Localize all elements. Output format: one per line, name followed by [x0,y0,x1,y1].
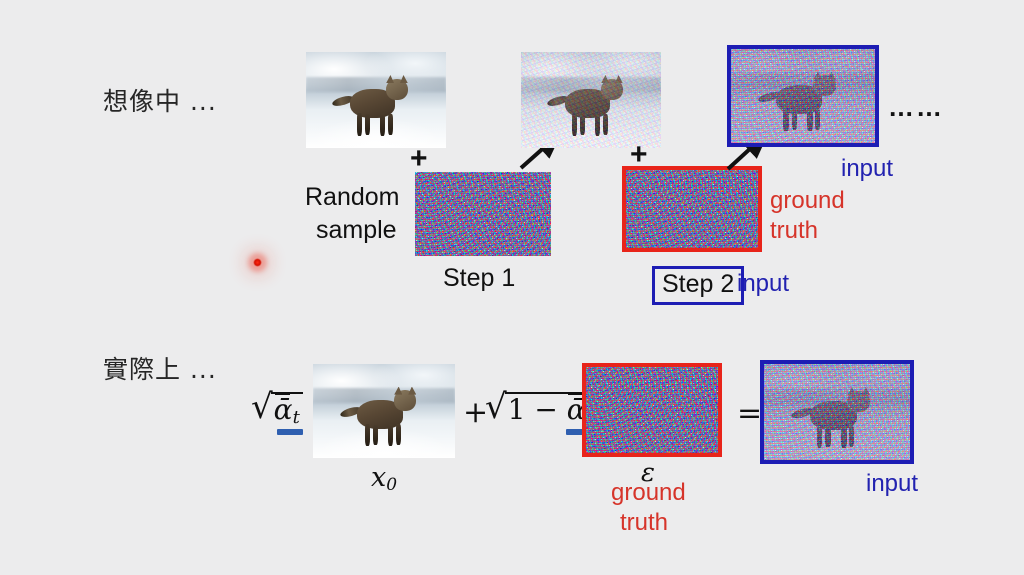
laser-pointer-dot [253,258,262,267]
image-slightly-noisy-cat [521,52,661,148]
plus-sign-2: + [630,140,648,170]
input-label-top-right: input [841,155,893,183]
step-1-label: Step 1 [443,264,515,293]
ellipsis-dots: …… [888,92,944,123]
noise-texture [626,170,758,248]
alpha-bar-symbol: ᾱ [274,396,293,424]
noise-texture [586,367,718,453]
coefficient-sqrt-alpha-bar: √ ᾱt [251,392,303,435]
image-random-noise-1 [415,172,551,256]
subscript-t: t [293,407,300,428]
noise-overlay [764,364,910,460]
alpha-bar-symbol: ᾱ [567,396,586,424]
sqrt-symbol: √ [485,392,507,423]
noise-overlay [731,49,875,143]
image-noisy-cat-input-top [731,49,875,143]
one-minus-text: 1 − [508,393,558,426]
plus-sign-1: + [410,144,428,174]
image-noisy-cat-input-bottom [764,364,910,460]
image-clean-cat-bottom [313,364,455,458]
cat-figure [342,75,415,138]
x0-symbol: x [371,462,386,493]
random-sample-label-line2: sample [316,216,397,245]
image-ground-truth-noise [626,170,758,248]
ground-truth-label-line1-top: ground [770,187,845,215]
ground-truth-label-line1-bottom: ground [611,479,686,507]
random-sample-label-line1: Random [305,183,400,212]
image-epsilon-noise [586,367,718,453]
coefficient-sqrt-one-minus-alpha-bar: √ 1 − ᾱt [485,392,596,435]
equals-sign: = [737,396,762,431]
x0-symbol-group: x0 [371,462,397,495]
input-label-bottom: input [866,470,918,498]
image-clean-cat-top [306,52,446,148]
slide-canvas: { "slide": { "background_color": "#ecece… [0,0,1024,575]
row-label-actual: 實際上 ... [103,350,217,386]
cat-figure [350,387,424,449]
noise-texture [415,172,551,256]
sqrt-symbol: √ [251,392,273,423]
input-label-after-step2: input [737,270,789,298]
noise-overlay [521,52,661,148]
ground-truth-label-line2-bottom: truth [620,509,668,537]
row-label-imagined: 想像中 ... [103,82,217,118]
x0-subscript: 0 [386,475,397,495]
blue-underline-mark [277,429,303,435]
ground-truth-label-line2-top: truth [770,217,818,245]
step-2-label: Step 2 [652,266,744,305]
